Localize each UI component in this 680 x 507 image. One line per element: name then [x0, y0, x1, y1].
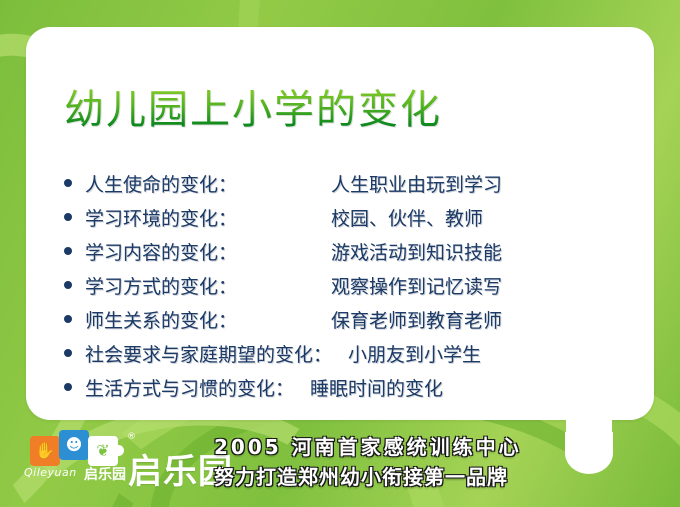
list-item: 社会要求与家庭期望的变化： 小朋友到小学生	[64, 340, 604, 374]
bullet-dot-icon	[64, 383, 72, 391]
hand-icon: ✋	[30, 436, 60, 466]
bullet-dot-icon	[64, 247, 72, 255]
list-item-value: 睡眠时间的变化	[310, 374, 443, 401]
bullet-dot-icon	[64, 179, 72, 187]
logo-pinyin-text: Qileyuan	[24, 466, 77, 479]
registered-trademark-icon: ®	[127, 432, 136, 442]
slogan-line-2: 努力打造郑州幼小衔接第一品牌	[214, 462, 554, 492]
banner-slogan: 2005 河南首家感统训练中心 努力打造郑州幼小衔接第一品牌	[214, 432, 554, 492]
list-item-label: 人生使命的变化：	[85, 170, 331, 197]
bullet-list: 人生使命的变化： 人生职业由玩到学习 学习环境的变化： 校园、伙伴、教师 学习内…	[64, 170, 604, 408]
list-item-label: 学习环境的变化：	[85, 204, 331, 231]
brand-logo: ✋ ☻ ❦ ® Qileyuan 启乐园 启乐园	[22, 430, 212, 496]
bullet-dot-icon	[64, 349, 72, 357]
list-item-label: 学习方式的变化：	[85, 272, 331, 299]
puzzle-pieces-logo: ✋ ☻ ❦ ®	[28, 430, 140, 462]
list-item: 学习环境的变化： 校园、伙伴、教师	[64, 204, 604, 238]
list-item: 学习内容的变化： 游戏活动到知识技能	[64, 238, 604, 272]
list-item-label: 师生关系的变化：	[85, 306, 331, 333]
page-title: 幼儿园上小学的变化	[64, 84, 442, 136]
bullet-dot-icon	[64, 315, 72, 323]
footer-banner: ✋ ☻ ❦ ® Qileyuan 启乐园 启乐园 2005 河南首家感统训练中心…	[0, 420, 680, 507]
list-item: 学习方式的变化： 观察操作到记忆读写	[64, 272, 604, 306]
list-item-label: 生活方式与习惯的变化：	[85, 374, 294, 401]
presentation-slide: 幼儿园上小学的变化 幼儿园上小学的变化 人生使命的变化： 人生职业由玩到学习 学…	[0, 0, 680, 507]
face-icon: ☻	[59, 430, 89, 460]
list-item-value: 观察操作到记忆读写	[331, 272, 502, 299]
list-item-label: 学习内容的变化：	[85, 238, 331, 265]
logo-name-small: 启乐园	[84, 464, 126, 484]
slogan-line-1: 2005 河南首家感统训练中心	[214, 432, 554, 462]
list-item-label: 社会要求与家庭期望的变化：	[85, 340, 332, 367]
list-item-value: 人生职业由玩到学习	[331, 170, 502, 197]
bullet-dot-icon	[64, 213, 72, 221]
list-item: 人生使命的变化： 人生职业由玩到学习	[64, 170, 604, 204]
puzzle-piece-orange: ✋	[30, 436, 60, 466]
list-item: 师生关系的变化： 保育老师到教育老师	[64, 306, 604, 340]
ear-icon: ❦	[88, 436, 118, 466]
list-item: 生活方式与习惯的变化： 睡眠时间的变化	[64, 374, 604, 408]
list-item-value: 游戏活动到知识技能	[331, 238, 502, 265]
list-item-value: 保育老师到教育老师	[331, 306, 502, 333]
puzzle-piece-blue: ☻	[59, 430, 89, 460]
list-item-value: 校园、伙伴、教师	[331, 204, 483, 231]
bullet-dot-icon	[64, 281, 72, 289]
list-item-value: 小朋友到小学生	[348, 340, 481, 367]
puzzle-piece-white: ❦	[88, 436, 118, 466]
